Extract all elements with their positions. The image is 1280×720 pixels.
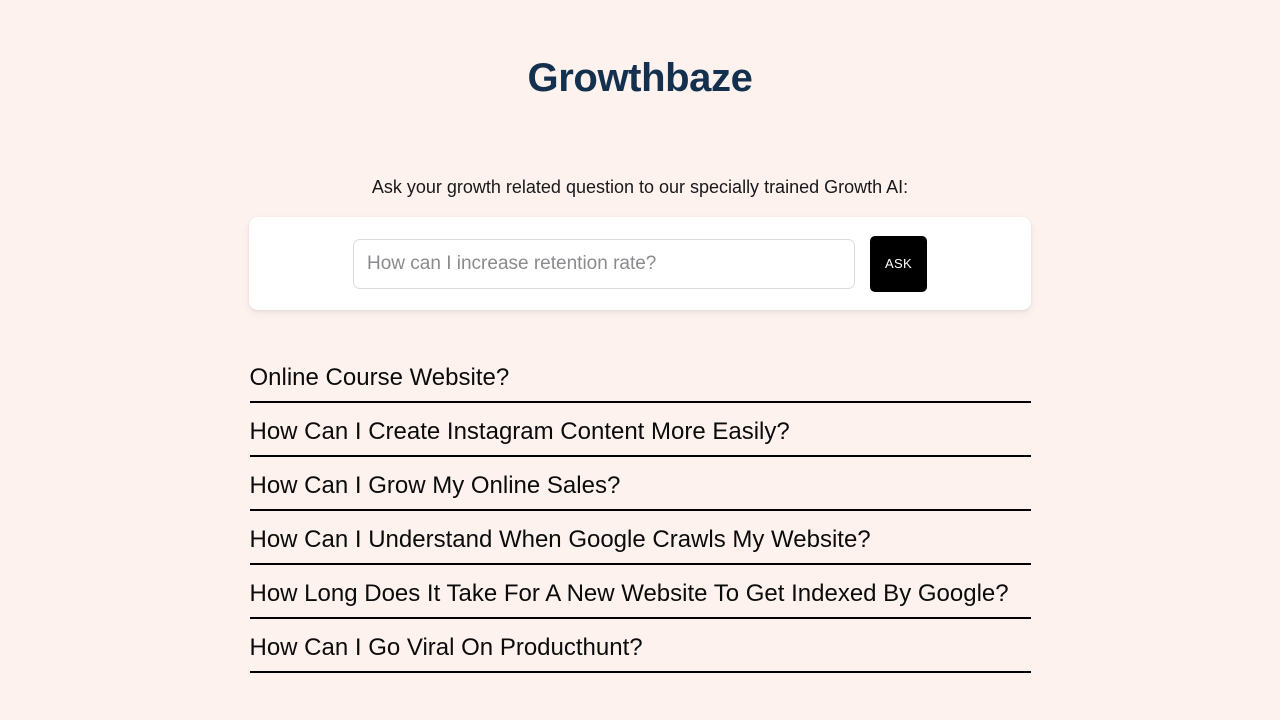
question-list: Online Course Website? How Can I Create … [250,310,1031,673]
ask-prompt-label: Ask your growth related question to our … [249,175,1031,199]
page-root: Growthbaze Ask your growth related quest… [0,0,1280,720]
page-title: Growthbaze [0,0,1280,98]
list-item[interactable]: How Can I Create Instagram Content More … [250,417,1031,457]
ask-card: ASK [249,217,1031,310]
question-input[interactable] [353,239,855,289]
list-item[interactable]: How Can I Grow My Online Sales? [250,471,1031,511]
list-item[interactable]: How Long Does It Take For A New Website … [250,579,1031,619]
ask-button[interactable]: ASK [870,236,927,292]
ask-section: Ask your growth related question to our … [249,98,1031,310]
list-item[interactable]: How Can I Go Viral On Producthunt? [250,633,1031,673]
list-item[interactable]: Online Course Website? [250,363,1031,403]
list-item[interactable]: How Can I Understand When Google Crawls … [250,525,1031,565]
ask-form: ASK [353,236,927,292]
